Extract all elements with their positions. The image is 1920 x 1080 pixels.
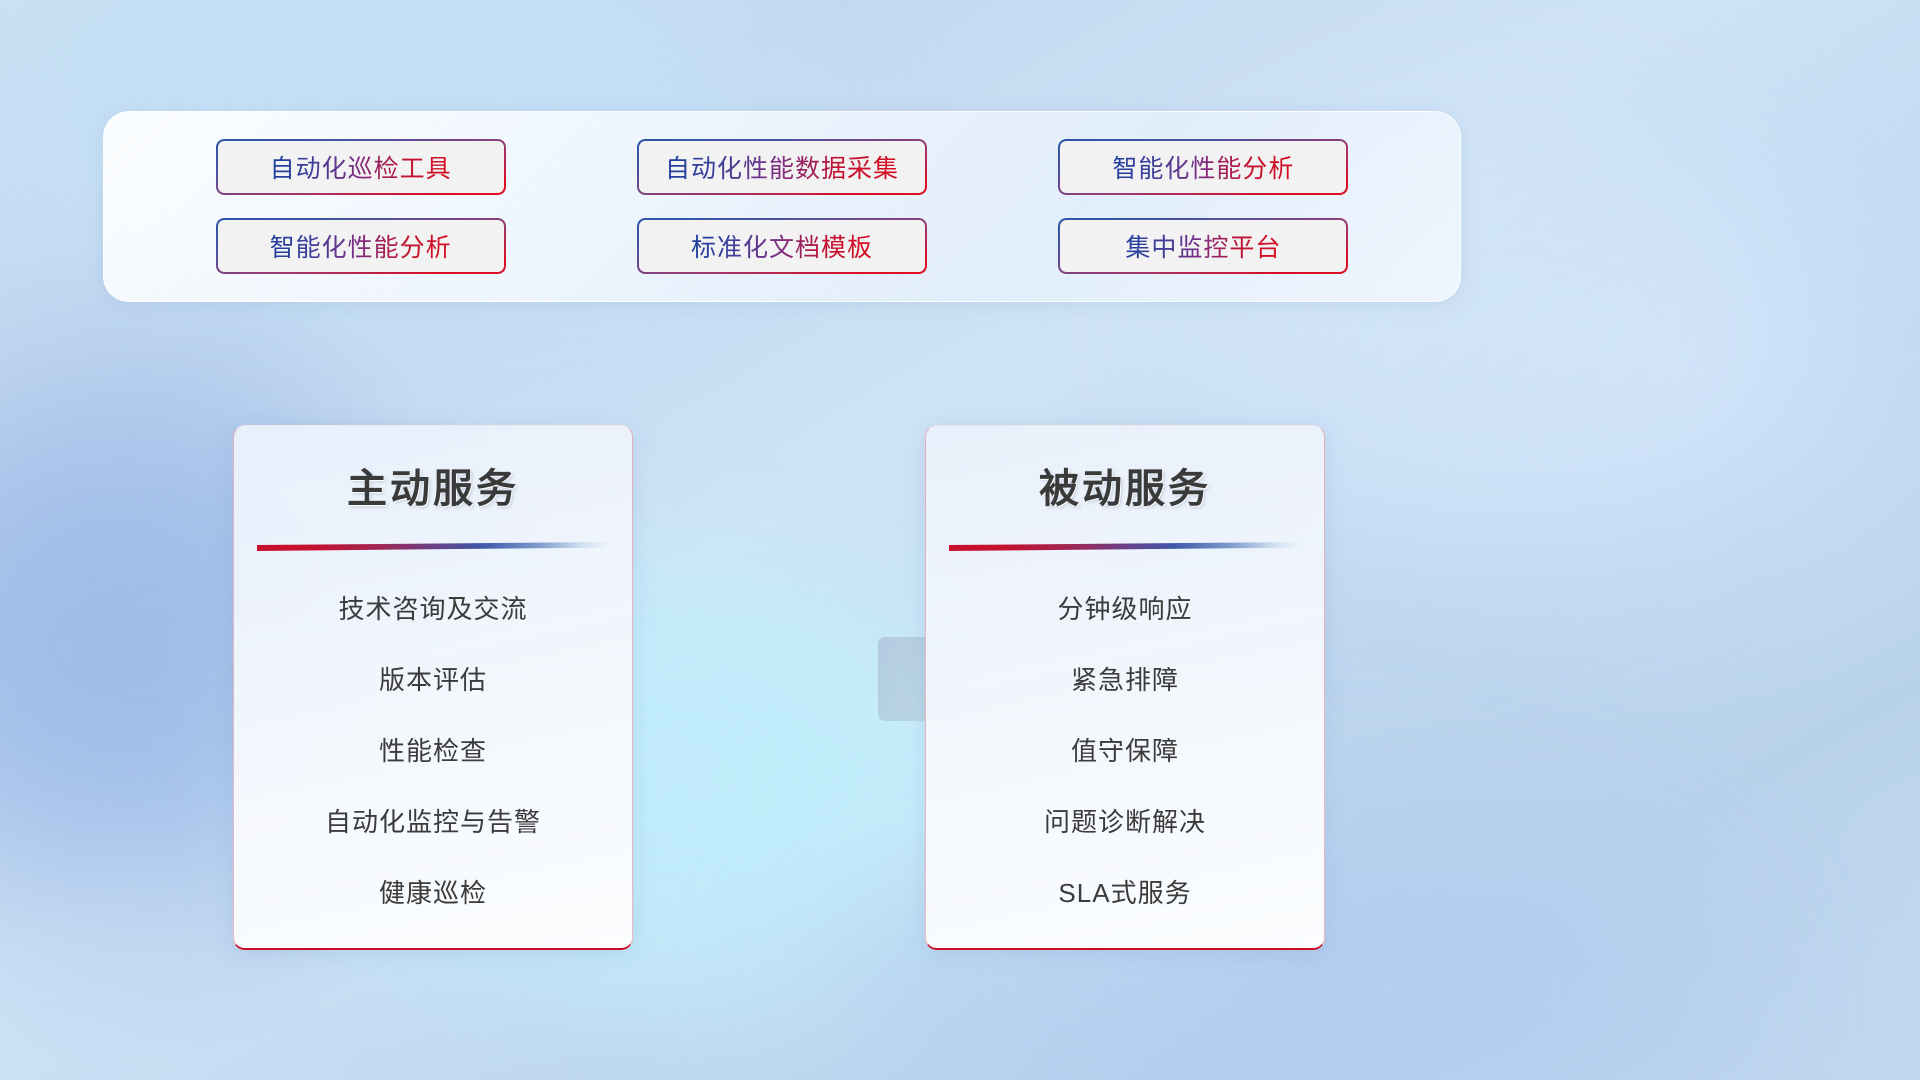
capability-tags-panel: 自动化巡检工具 自动化性能数据采集 智能化性能分析 智能化性能分析 标准化文档模… [103, 111, 1461, 302]
service-list-item[interactable]: 自动化监控与告警 [234, 795, 632, 849]
service-item-list: 分钟级响应 紧急排障 值守保障 问题诊断解决 SLA式服务 [926, 582, 1324, 937]
title-divider [949, 540, 1301, 552]
capability-tag[interactable]: 自动化巡检工具 [216, 139, 506, 195]
capability-tag[interactable]: 标准化文档模板 [637, 218, 927, 274]
service-list-item[interactable]: 健康巡检 [234, 866, 632, 920]
capability-tag[interactable]: 智能化性能分析 [216, 218, 506, 274]
service-item-list: 技术咨询及交流 版本评估 性能检查 自动化监控与告警 健康巡检 [234, 582, 632, 937]
capability-tag-label: 自动化巡检工具 [270, 149, 452, 185]
capability-tag-label: 智能化性能分析 [270, 228, 452, 264]
service-card-passive[interactable]: 被动服务 分钟级响应 紧急排障 值守保障 问题诊断解决 SLA式服务 [925, 425, 1325, 950]
service-list-item[interactable]: 紧急排障 [926, 653, 1324, 707]
title-divider-bar [257, 542, 609, 551]
service-list-item[interactable]: 技术咨询及交流 [234, 582, 632, 636]
capability-tag[interactable]: 智能化性能分析 [1058, 139, 1348, 195]
service-list-item[interactable]: 问题诊断解决 [926, 795, 1324, 849]
service-list-item[interactable]: 版本评估 [234, 653, 632, 707]
capability-tag-label: 智能化性能分析 [1112, 149, 1294, 185]
service-list-item[interactable]: SLA式服务 [926, 866, 1324, 920]
capability-tag[interactable]: 集中监控平台 [1058, 218, 1348, 274]
slide-canvas: 自动化巡检工具 自动化性能数据采集 智能化性能分析 智能化性能分析 标准化文档模… [0, 0, 1920, 1080]
service-list-item[interactable]: 分钟级响应 [926, 582, 1324, 636]
capability-tag[interactable]: 自动化性能数据采集 [637, 139, 927, 195]
service-card-title: 主动服务 [234, 456, 632, 514]
capability-tag-label: 集中监控平台 [1125, 228, 1281, 264]
title-divider-bar [949, 542, 1301, 551]
service-list-item[interactable]: 性能检查 [234, 724, 632, 778]
capability-tag-label: 标准化文档模板 [691, 228, 873, 264]
service-list-item[interactable]: 值守保障 [926, 724, 1324, 778]
service-card-title: 被动服务 [926, 456, 1324, 514]
service-card-active[interactable]: 主动服务 技术咨询及交流 版本评估 性能检查 自动化监控与告警 健康巡检 [233, 425, 633, 950]
title-divider [257, 540, 609, 552]
capability-tag-label: 自动化性能数据采集 [665, 149, 899, 185]
